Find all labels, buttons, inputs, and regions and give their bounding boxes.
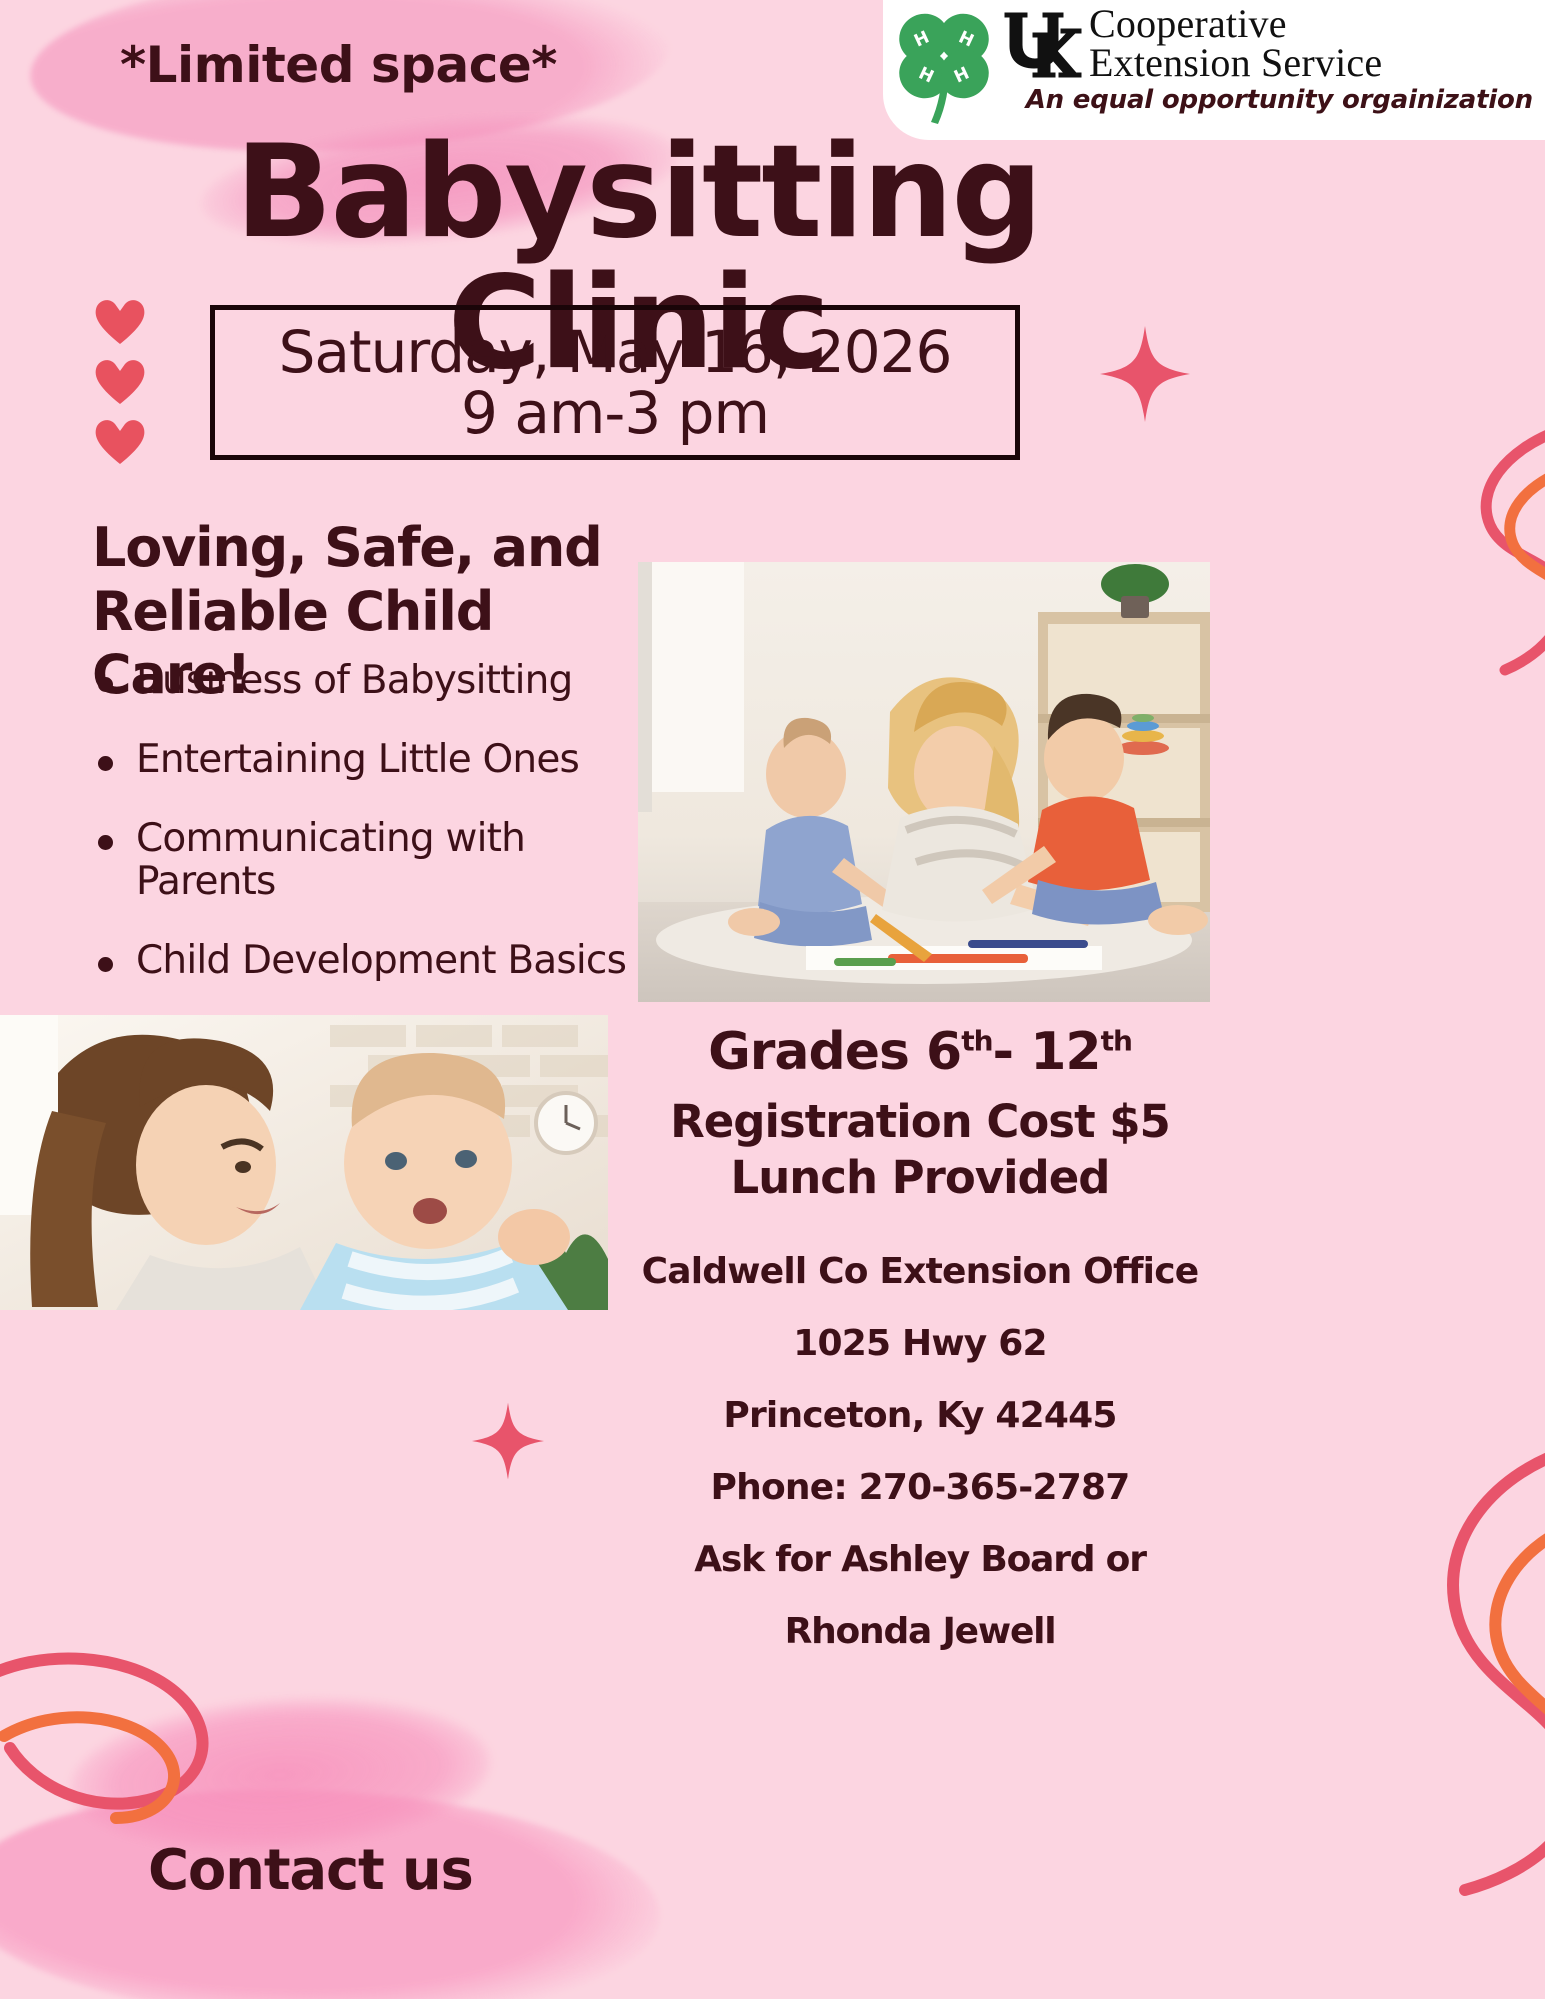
- date-time-box: Saturday, May 16, 2026 9 am-3 pm: [210, 305, 1020, 460]
- logo-line-2: Extension Service: [1089, 43, 1382, 82]
- contact-us-heading: Contact us: [148, 1838, 473, 1903]
- grades-line: Grades 6th- 12th: [640, 1022, 1200, 1082]
- list-item: Communicating with Parents: [86, 818, 666, 904]
- list-item: Child Development Basics: [86, 940, 666, 983]
- office-name: Caldwell Co Extension Office: [620, 1236, 1220, 1308]
- logo-line-1: Cooperative: [1089, 4, 1382, 43]
- lunch-provided: Lunch Provided: [640, 1150, 1200, 1206]
- grades-middle: - 12: [993, 1022, 1101, 1082]
- street-address: 1025 Hwy 62: [620, 1308, 1220, 1380]
- uk-monogram-icon: [999, 7, 1085, 81]
- contact-persons: Ask for Ashley Board or Rhonda Jewell: [620, 1524, 1220, 1668]
- city-state-zip: Princeton, Ky 42445: [620, 1380, 1220, 1452]
- four-leaf-clover-icon: H H H H: [893, 8, 997, 126]
- registration-cost: Registration Cost $5: [640, 1094, 1200, 1150]
- address-block: Caldwell Co Extension Office 1025 Hwy 62…: [620, 1236, 1220, 1668]
- grades-prefix: Grades 6: [708, 1022, 961, 1082]
- grades-sup-1: th: [961, 1025, 992, 1058]
- squiggle-decoration-bottom-right: [1345, 1430, 1545, 1900]
- equal-opportunity-text: An equal opportunity orgainization: [999, 85, 1537, 115]
- sparkle-icon-bottom-left: [472, 1402, 544, 1480]
- subheading-line-1: Loving, Safe, and: [92, 516, 632, 580]
- photo-children-drawing: [638, 562, 1210, 1002]
- squiggle-decoration-top-right: [1355, 420, 1545, 680]
- event-time: 9 am-3 pm: [461, 383, 769, 443]
- limited-space-banner: *Limited space*: [120, 36, 557, 94]
- event-date: Saturday, May 16, 2026: [279, 322, 952, 382]
- list-item: Entertaining Little Ones: [86, 739, 666, 782]
- grades-sup-2: th: [1101, 1025, 1132, 1058]
- registration-block: Registration Cost $5 Lunch Provided: [640, 1094, 1200, 1206]
- photo-woman-holding-baby: [0, 1015, 608, 1310]
- heart-icon: [92, 416, 148, 466]
- phone-number: Phone: 270-365-2787: [620, 1452, 1220, 1524]
- flyer-page: H H H H Cooperative Extension Service: [0, 0, 1545, 1999]
- list-item: Business of Babysitting: [86, 660, 666, 703]
